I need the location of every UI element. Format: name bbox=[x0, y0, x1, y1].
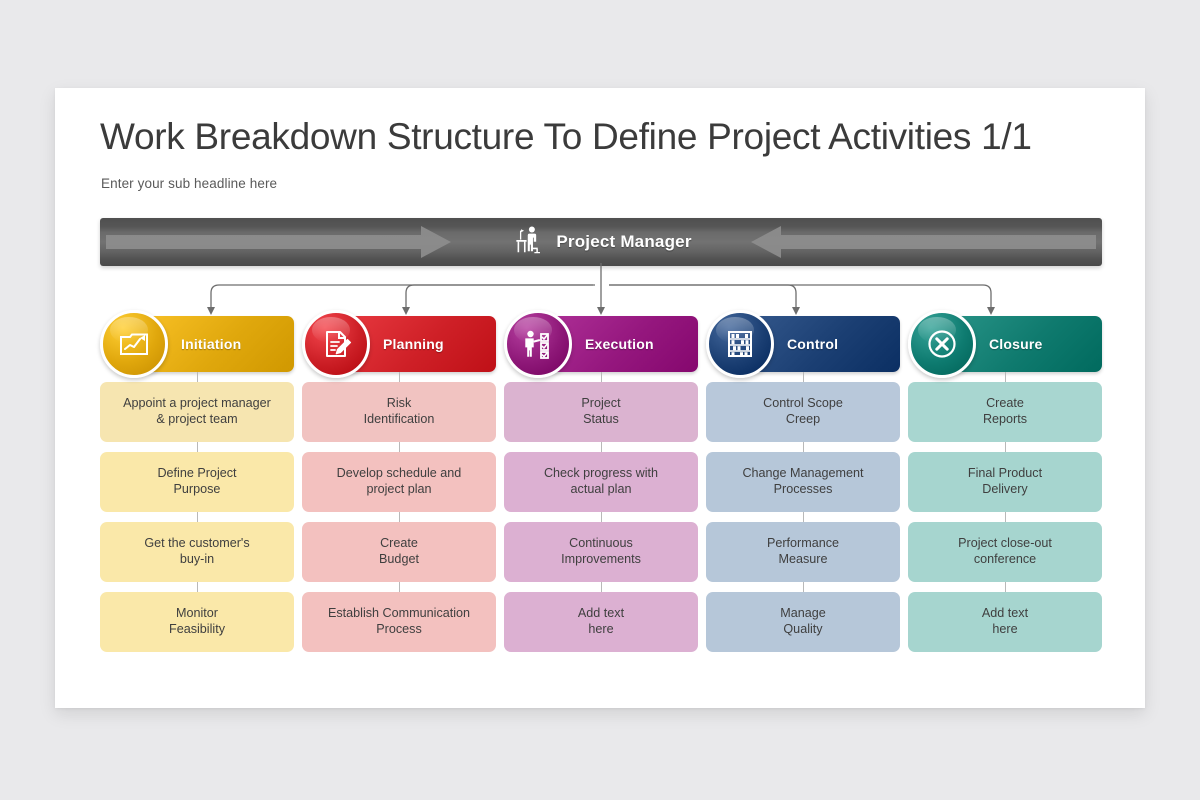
wbs-cell[interactable]: ProjectStatus bbox=[504, 382, 698, 442]
wbs-cell-text: MonitorFeasibility bbox=[169, 606, 225, 637]
project-manager-bar[interactable]: Project Manager bbox=[100, 218, 1102, 266]
wbs-cell-text: Appoint a project manager& project team bbox=[123, 396, 271, 427]
column-header-planning[interactable]: Planning bbox=[335, 316, 496, 372]
wbs-cell-text: ProjectStatus bbox=[581, 396, 620, 427]
wbs-cell-text: Control ScopeCreep bbox=[763, 396, 843, 427]
column-label: Control bbox=[787, 336, 838, 352]
document-pencil-icon bbox=[302, 310, 370, 378]
arrow-right-icon bbox=[106, 218, 451, 266]
column-label: Closure bbox=[989, 336, 1043, 352]
wbs-cell-text: Develop schedule andproject plan bbox=[337, 466, 462, 497]
wbs-column-planning: Planning RiskIdentification Develop sche… bbox=[302, 316, 496, 652]
wbs-cell[interactable]: Final ProductDelivery bbox=[908, 452, 1102, 512]
column-header-initiation[interactable]: Initiation bbox=[133, 316, 294, 372]
wbs-cell[interactable]: Add texthere bbox=[504, 592, 698, 652]
wbs-cell-text: PerformanceMeasure bbox=[767, 536, 839, 567]
wbs-cell[interactable]: Project close-outconference bbox=[908, 522, 1102, 582]
project-manager-center: Project Manager bbox=[492, 218, 709, 266]
slide-card: Work Breakdown Structure To Define Proje… bbox=[55, 88, 1145, 708]
branch-arrows-icon bbox=[55, 263, 1145, 318]
wbs-cell[interactable]: ManageQuality bbox=[706, 592, 900, 652]
wbs-cell-text: CreateBudget bbox=[379, 536, 419, 567]
wbs-cell[interactable]: Define ProjectPurpose bbox=[100, 452, 294, 512]
growth-chart-folder-icon bbox=[100, 310, 168, 378]
project-manager-label: Project Manager bbox=[556, 232, 691, 252]
wbs-cell-text: RiskIdentification bbox=[364, 396, 435, 427]
wbs-cell[interactable]: CreateReports bbox=[908, 382, 1102, 442]
wbs-cell[interactable]: Check progress withactual plan bbox=[504, 452, 698, 512]
wbs-cell-text: ContinuousImprovements bbox=[561, 536, 641, 567]
wbs-cell[interactable]: Establish CommunicationProcess bbox=[302, 592, 496, 652]
wbs-cell[interactable]: CreateBudget bbox=[302, 522, 496, 582]
column-label: Planning bbox=[383, 336, 444, 352]
page-title: Work Breakdown Structure To Define Proje… bbox=[100, 116, 1032, 158]
wbs-cell-text: CreateReports bbox=[983, 396, 1027, 427]
column-header-execution[interactable]: Execution bbox=[537, 316, 698, 372]
wbs-cell[interactable]: Appoint a project manager& project team bbox=[100, 382, 294, 442]
x-circle-icon bbox=[908, 310, 976, 378]
wbs-cell-text: Check progress withactual plan bbox=[544, 466, 658, 497]
wbs-cell-text: Define ProjectPurpose bbox=[157, 466, 236, 497]
wbs-columns: Initiation Appoint a project manager& pr… bbox=[100, 316, 1102, 652]
column-header-closure[interactable]: Closure bbox=[941, 316, 1102, 372]
wbs-cell[interactable]: Get the customer'sbuy-in bbox=[100, 522, 294, 582]
wbs-column-execution: Execution ProjectStatus Check progress w… bbox=[504, 316, 698, 652]
wbs-cell[interactable]: Add texthere bbox=[908, 592, 1102, 652]
person-at-desk-icon bbox=[510, 223, 544, 262]
wbs-cell-text: Project close-outconference bbox=[958, 536, 1052, 567]
arrow-left-icon bbox=[751, 218, 1096, 266]
wbs-cell-text: Change ManagementProcesses bbox=[742, 466, 863, 497]
wbs-cell[interactable]: RiskIdentification bbox=[302, 382, 496, 442]
wbs-cell-text: Add texthere bbox=[578, 606, 624, 637]
wbs-cell[interactable]: Develop schedule andproject plan bbox=[302, 452, 496, 512]
wbs-cell-text: Establish CommunicationProcess bbox=[328, 606, 470, 637]
wbs-cell[interactable]: Control ScopeCreep bbox=[706, 382, 900, 442]
wbs-cell-text: Get the customer'sbuy-in bbox=[144, 536, 249, 567]
wbs-cell-text: ManageQuality bbox=[780, 606, 826, 637]
wbs-column-closure: Closure CreateReports Final ProductDeliv… bbox=[908, 316, 1102, 652]
wbs-column-initiation: Initiation Appoint a project manager& pr… bbox=[100, 316, 294, 652]
wbs-cell[interactable]: Change ManagementProcesses bbox=[706, 452, 900, 512]
wbs-cell-text: Final ProductDelivery bbox=[968, 466, 1042, 497]
abacus-icon bbox=[706, 310, 774, 378]
wbs-cell[interactable]: ContinuousImprovements bbox=[504, 522, 698, 582]
wbs-cell[interactable]: PerformanceMeasure bbox=[706, 522, 900, 582]
wbs-cell[interactable]: MonitorFeasibility bbox=[100, 592, 294, 652]
wbs-column-control: Control Control ScopeCreep Change Manage… bbox=[706, 316, 900, 652]
wbs-cell-text: Add texthere bbox=[982, 606, 1028, 637]
column-header-control[interactable]: Control bbox=[739, 316, 900, 372]
page-subtitle: Enter your sub headline here bbox=[101, 176, 277, 191]
person-checklist-icon bbox=[504, 310, 572, 378]
column-label: Execution bbox=[585, 336, 654, 352]
column-label: Initiation bbox=[181, 336, 241, 352]
